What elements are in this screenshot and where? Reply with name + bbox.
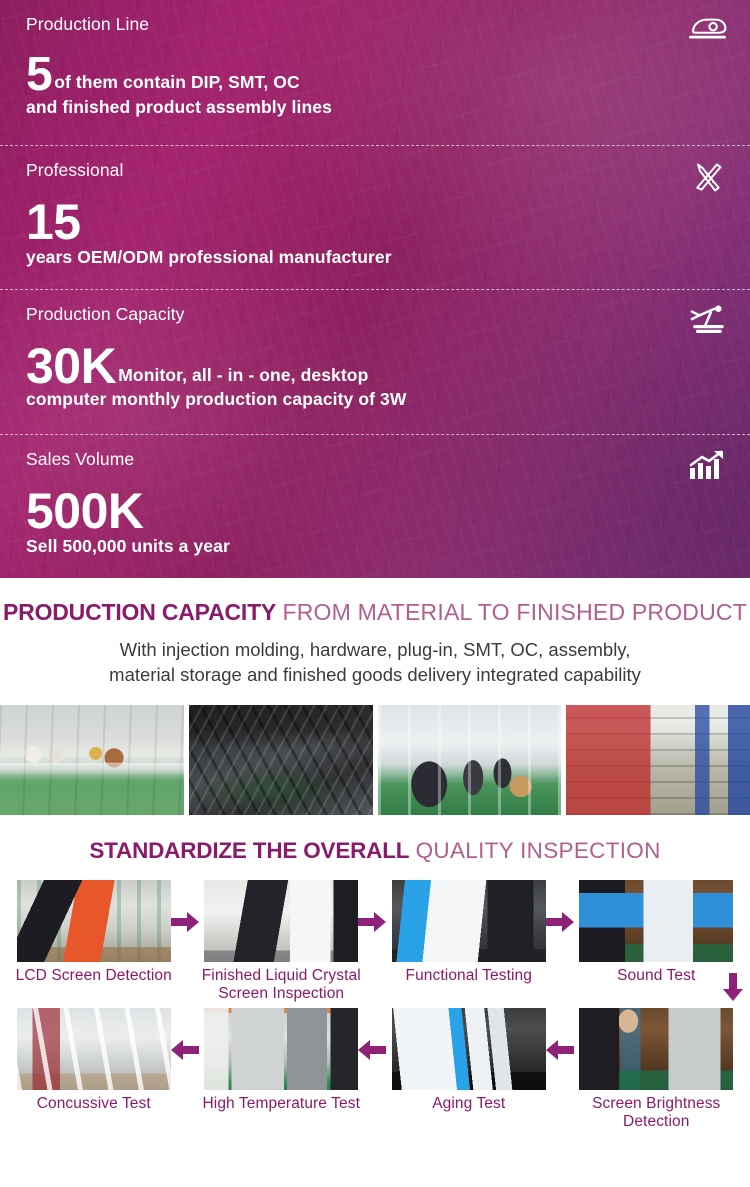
arrow-right-icon [170, 910, 200, 934]
stat-description: 500K Sell 500,000 units a year [26, 488, 724, 558]
stats-banner: Production Line 5of them contain DIP, SM… [0, 0, 750, 578]
quality-step: Concussive Test [0, 1008, 188, 1136]
stat-text-line1: Sell 500,000 units a year [26, 536, 230, 556]
stat-number: 15 [26, 199, 722, 245]
stat-description: 30KMonitor, all - in - one, desktop comp… [26, 343, 724, 411]
quality-heading-light: QUALITY INSPECTION [416, 838, 661, 863]
quality-steps-grid: LCD Screen Detection Finished Liquid Cry… [0, 880, 750, 1135]
stat-number: 30K [26, 338, 116, 394]
arrow-down-icon [722, 972, 744, 1002]
capacity-heading-bold: PRODUCTION CAPACITY [3, 599, 276, 625]
arrow-right-icon [545, 910, 575, 934]
stat-text-line1: Monitor, all - in - one, desktop [118, 365, 368, 385]
pencil-ruler-icon [686, 160, 728, 194]
arrow-right-icon [357, 910, 387, 934]
quality-heading: STANDARDIZE THE OVERALL QUALITY INSPECTI… [0, 839, 750, 864]
quality-step-label: Sound Test [569, 967, 745, 985]
stat-title: Production Line [26, 0, 724, 35]
stat-title: Sales Volume [26, 435, 724, 470]
quality-step-label: Aging Test [381, 1095, 557, 1113]
stat-production-line: Production Line 5of them contain DIP, SM… [0, 0, 750, 145]
quality-step: High Temperature Test [188, 1008, 376, 1136]
stat-text-line2: and finished product assembly lines [26, 97, 332, 117]
quality-step: Functional Testing [375, 880, 563, 1008]
aging-test-photo [392, 1008, 546, 1090]
lcd-screen-detection-photo [17, 880, 171, 962]
screen-brightness-detection-photo [579, 1008, 733, 1090]
conveyor-roller-icon [686, 14, 728, 48]
quality-step-label: Screen Brightness Detection [569, 1095, 745, 1132]
stat-number: 5 [26, 48, 52, 101]
quality-step: Finished Liquid Crystal Screen Inspectio… [188, 880, 376, 1008]
quality-step-label: Functional Testing [381, 967, 557, 985]
quality-step: Screen Brightness Detection [563, 1008, 750, 1136]
stat-title: Production Capacity [26, 290, 724, 325]
stat-description: 5of them contain DIP, SMT, OC and finish… [26, 53, 724, 119]
quality-heading-bold: STANDARDIZE THE OVERALL [89, 838, 409, 863]
stat-sales-volume: Sales Volume 500K Sell 500,000 units a y… [0, 434, 750, 579]
concussive-test-photo [17, 1008, 171, 1090]
quality-step-label: High Temperature Test [194, 1095, 370, 1113]
high-temperature-test-photo [204, 1008, 358, 1090]
finished-liquid-crystal-screen-inspection-photo [204, 880, 358, 962]
assembly-line-photo [378, 705, 562, 815]
smt-machine-photo [189, 705, 373, 815]
stat-text-line1: years OEM/ODM professional manufacturer [26, 247, 392, 267]
sound-test-photo [579, 880, 733, 962]
capacity-heading-light: FROM MATERIAL TO FINISHED PRODUCT [282, 599, 747, 625]
stat-text-line1: of them contain DIP, SMT, OC [54, 72, 300, 92]
robot-arm-icon [686, 304, 728, 338]
quality-step: Aging Test [375, 1008, 563, 1136]
arrow-left-icon [170, 1038, 200, 1062]
arrow-left-icon [545, 1038, 575, 1062]
capacity-sub-line2: material storage and finished goods deli… [109, 664, 641, 685]
quality-step-label: Finished Liquid Crystal Screen Inspectio… [194, 967, 370, 1004]
stat-number: 500K [26, 488, 722, 534]
arrow-left-icon [357, 1038, 387, 1062]
capacity-heading: PRODUCTION CAPACITY FROM MATERIAL TO FIN… [0, 600, 750, 625]
quality-step-label: Concussive Test [6, 1095, 182, 1113]
quality-step-label: LCD Screen Detection [6, 967, 182, 985]
stat-title: Professional [26, 146, 724, 181]
quality-step: LCD Screen Detection [0, 880, 188, 1008]
stat-production-capacity: Production Capacity 30KMonitor, all - in… [0, 289, 750, 434]
stat-professional: Professional 15 years OEM/ODM profession… [0, 145, 750, 290]
stat-text-line2: computer monthly production capacity of … [26, 389, 406, 409]
injection-molding-line-photo [0, 705, 184, 815]
capacity-sub-line1: With injection molding, hardware, plug-i… [120, 639, 631, 660]
stat-description: 15 years OEM/ODM professional manufactur… [26, 199, 724, 269]
quality-step: Sound Test [563, 880, 750, 1008]
production-capacity-section: PRODUCTION CAPACITY FROM MATERIAL TO FIN… [0, 578, 750, 815]
quality-inspection-section: STANDARDIZE THE OVERALL QUALITY INSPECTI… [0, 839, 750, 1145]
capacity-subtitle: With injection molding, hardware, plug-i… [0, 638, 750, 688]
warehouse-storage-photo [566, 705, 750, 815]
functional-testing-photo [392, 880, 546, 962]
capacity-photo-strip [0, 705, 750, 815]
growth-chart-icon [686, 449, 728, 483]
